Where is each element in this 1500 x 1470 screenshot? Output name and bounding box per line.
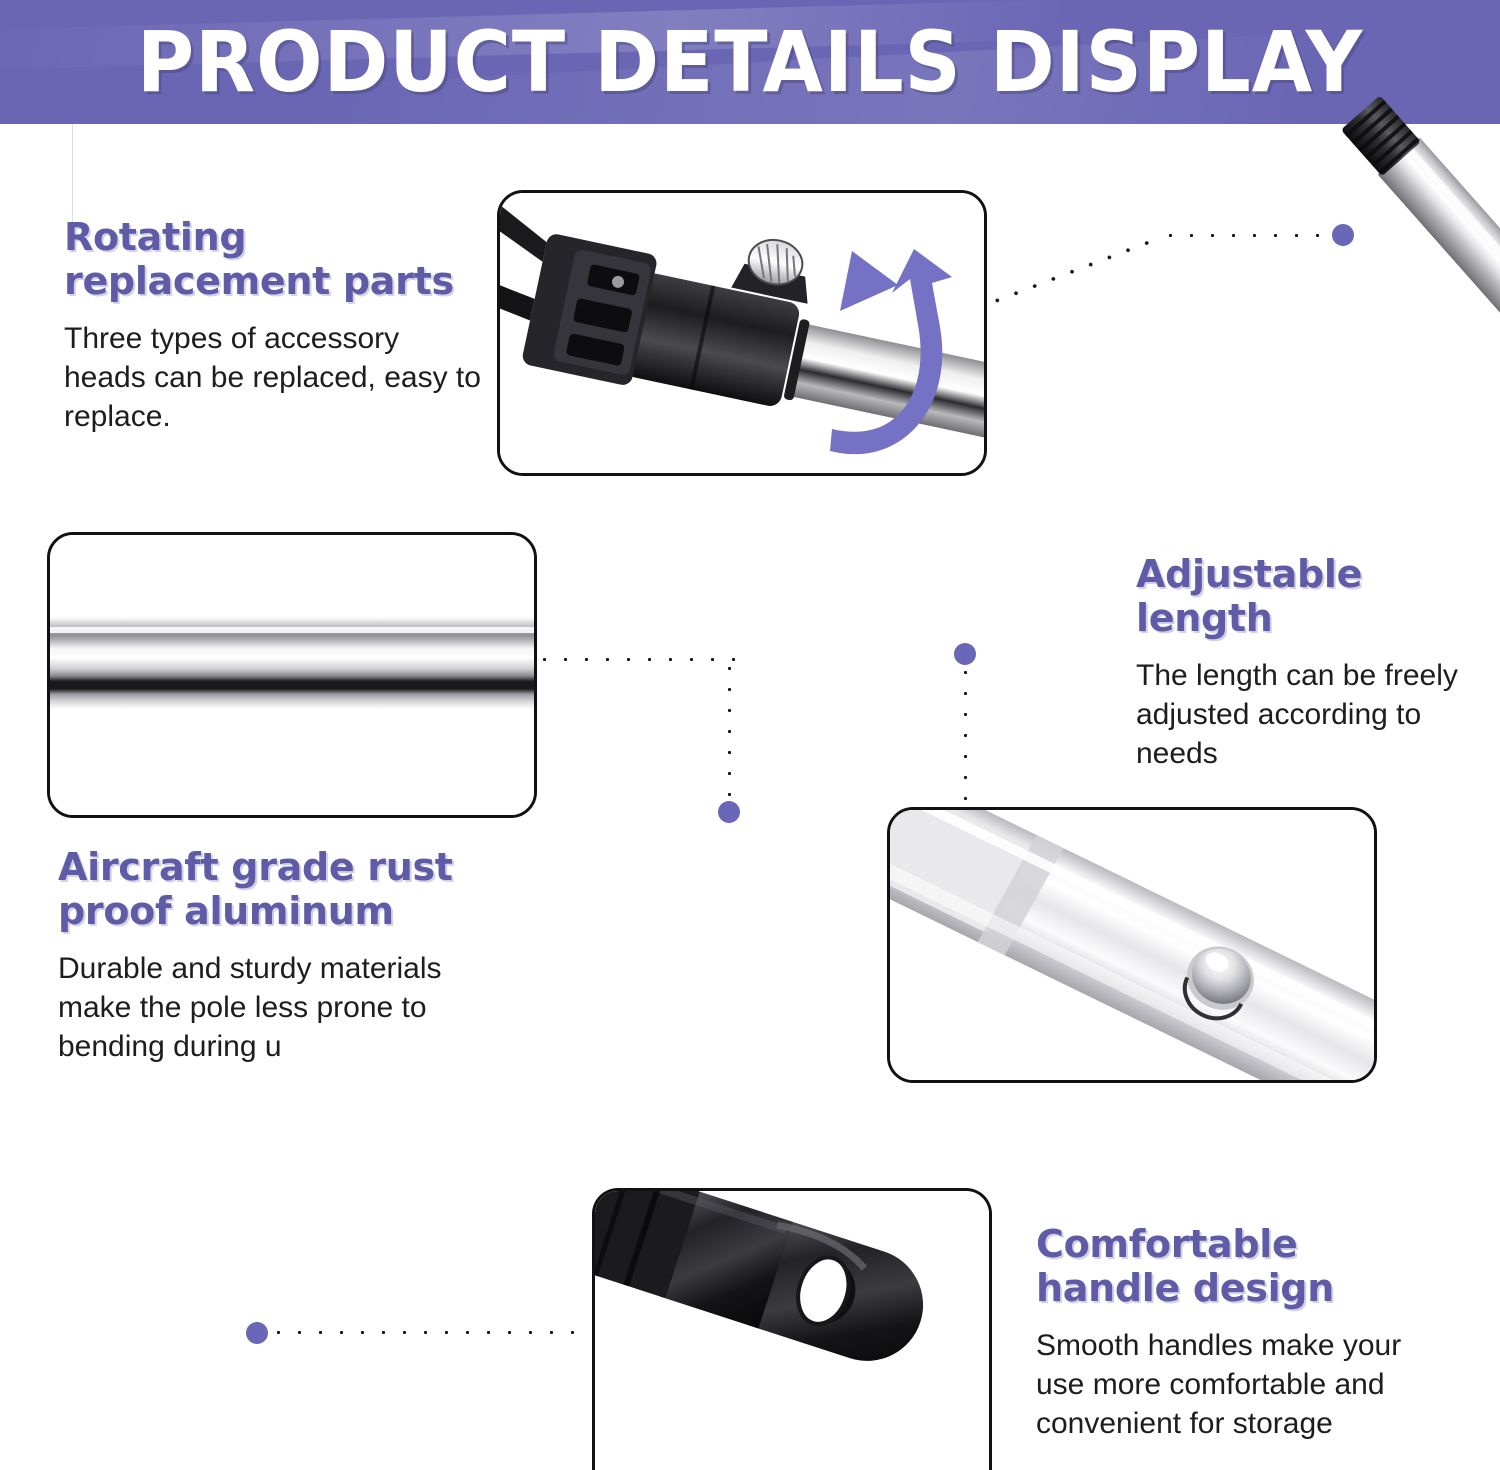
leader-segment-diagonal <box>987 236 1158 308</box>
feature-block-adjustable: Adjustable length The length can be free… <box>1136 552 1466 773</box>
leader-segment-vertical <box>726 658 733 810</box>
feature-block-rotating: Rotating replacement parts Three types o… <box>64 215 484 436</box>
feature-body-handle: Smooth handles make your use more comfor… <box>1036 1326 1456 1443</box>
leader-endpoint-dot <box>954 643 976 665</box>
feature-body-adjustable: The length can be freely adjusted accord… <box>1136 656 1466 773</box>
feature-heading-rotating: Rotating replacement parts <box>64 215 484 303</box>
feature-body-aluminum: Durable and sturdy materials make the po… <box>58 949 488 1066</box>
leader-endpoint-dot <box>718 801 740 823</box>
feature-block-handle: Comfortable handle design Smooth handles… <box>1036 1222 1456 1443</box>
feature-block-aluminum: Aircraft grade rust proof aluminum Durab… <box>58 845 488 1066</box>
leader-endpoint-dot <box>246 1322 268 1344</box>
feature-heading-handle: Comfortable handle design <box>1036 1222 1456 1310</box>
leader-segment-horizontal <box>534 656 736 663</box>
handle-grip-photo <box>592 1188 992 1470</box>
feature-heading-aluminum: Aircraft grade rust proof aluminum <box>58 845 488 933</box>
leader-segment-vertical <box>962 662 969 810</box>
locking-pin-photo <box>887 807 1377 1083</box>
page-title: PRODUCT DETAILS DISPLAY <box>53 0 1448 124</box>
header-banner: PRODUCT DETAILS DISPLAY <box>0 0 1500 124</box>
leader-segment-horizontal <box>268 1329 598 1336</box>
leader-segment-horizontal <box>1160 232 1342 239</box>
chrome-pole-photo <box>47 532 537 818</box>
rotating-connector-photo <box>497 190 987 476</box>
feature-body-rotating: Three types of accessory heads can be re… <box>64 319 484 436</box>
leader-endpoint-dot <box>1332 224 1354 246</box>
feature-heading-adjustable: Adjustable length <box>1136 552 1466 640</box>
infographic-canvas: PRODUCT DETAILS DISPLAY <box>0 0 1500 1470</box>
